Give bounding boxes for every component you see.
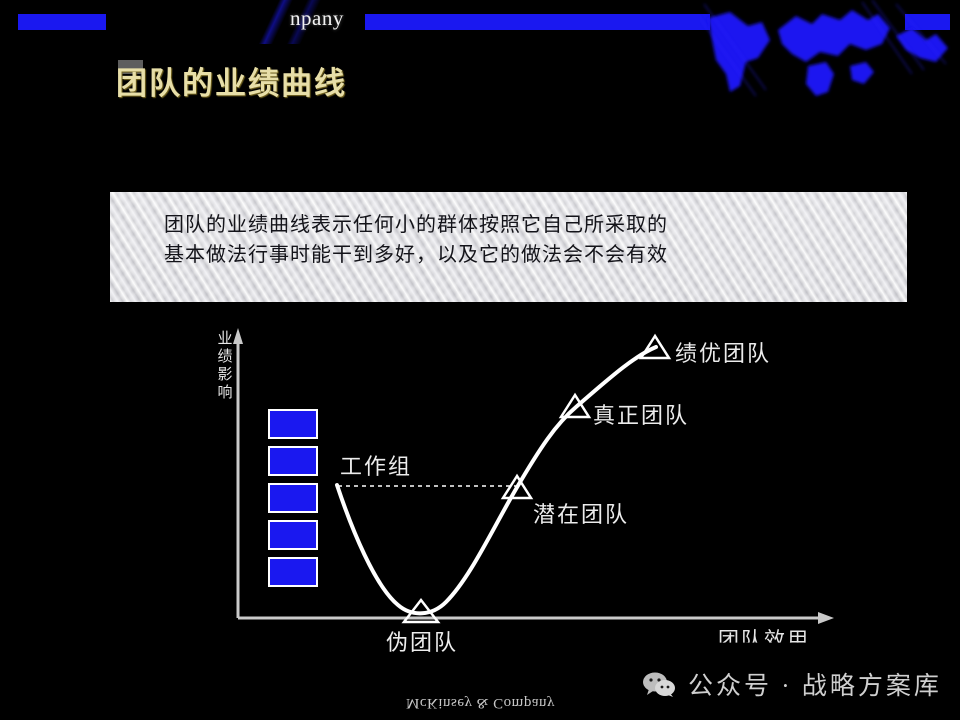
- x-axis-label: 团队效用: [718, 624, 810, 654]
- header-bar-middle: [365, 14, 710, 30]
- slide-canvas: npany 团队的业绩曲线 团队的业绩曲线表示任何小的群体按照它自己所采取的: [0, 0, 960, 720]
- scale-block-3: [268, 483, 318, 513]
- y-axis-arrow: [233, 328, 243, 344]
- performance-scale-blocks: [268, 409, 318, 587]
- scale-block-1: [268, 409, 318, 439]
- label-potential-team: 潜在团队: [533, 497, 629, 529]
- page-title: 团队的业绩曲线: [116, 58, 347, 103]
- scale-block-5: [268, 557, 318, 587]
- label-real-team: 真正团队: [593, 398, 689, 430]
- watermark: 公众号 · 战略方案库: [642, 666, 942, 702]
- x-axis-arrow: [818, 612, 834, 624]
- y-axis-label-c1: 业: [214, 330, 236, 348]
- y-axis-label-c2: 绩: [214, 348, 236, 366]
- label-pseudo-team: 伪团队: [386, 625, 458, 657]
- performance-curve-chart: 业 绩 影 响 团队效用 工作组 伪团队 潜在团队 真正团队 绩优团队: [0, 0, 960, 720]
- y-axis-label-c3: 影: [214, 366, 236, 384]
- wechat-icon: [642, 671, 676, 697]
- scale-block-4: [268, 520, 318, 550]
- marker-real-team: [561, 395, 589, 417]
- y-axis-label: 业 绩 影 响: [214, 330, 236, 402]
- caption-line-1: 团队的业绩曲线表示任何小的群体按照它自己所采取的: [164, 210, 864, 240]
- watermark-text: 公众号 · 战略方案库: [688, 666, 942, 702]
- marker-high-performance-team: [641, 336, 669, 358]
- marker-potential-team: [503, 476, 531, 498]
- header-company-text: npany: [290, 6, 344, 31]
- header-bar-right: [905, 14, 950, 30]
- label-high-performance-team: 绩优团队: [675, 336, 771, 368]
- mckinsey-footer: McKinsey & Company: [406, 694, 555, 711]
- header-bar-left: [18, 14, 106, 30]
- chart-svg: [0, 0, 960, 720]
- marker-pseudo-team: [404, 600, 438, 622]
- caption-line-2: 基本做法行事时能干到多好，以及它的做法会不会有效: [164, 240, 864, 270]
- performance-curve-path: [337, 347, 656, 613]
- scale-block-2: [268, 446, 318, 476]
- caption-panel: 团队的业绩曲线表示任何小的群体按照它自己所采取的 基本做法行事时能干到多好，以及…: [110, 192, 907, 302]
- y-axis-label-c4: 响: [214, 384, 236, 402]
- label-work-group: 工作组: [340, 449, 412, 481]
- caption-text: 团队的业绩曲线表示任何小的群体按照它自己所采取的 基本做法行事时能干到多好，以及…: [164, 210, 864, 270]
